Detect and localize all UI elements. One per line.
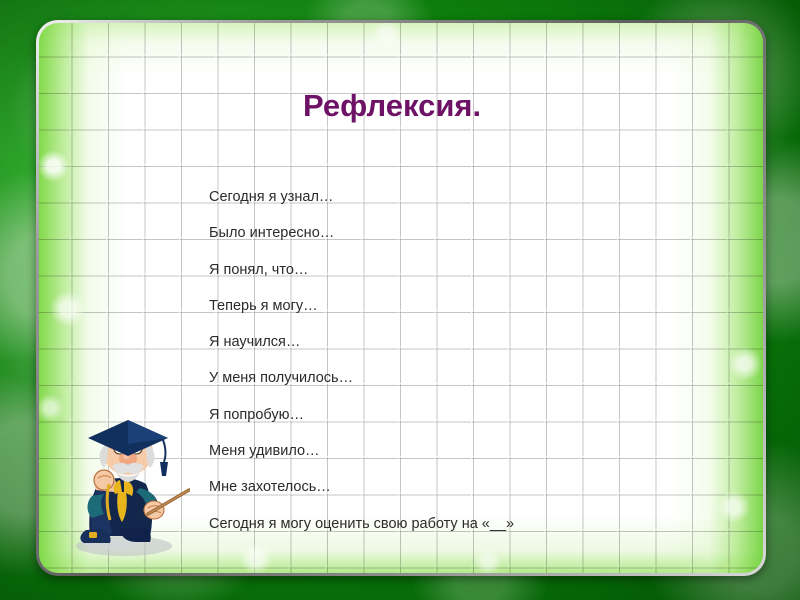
tassel-cord bbox=[163, 440, 165, 462]
left-fist bbox=[94, 470, 114, 490]
tassel bbox=[160, 462, 168, 476]
list-item: Я попробую… bbox=[209, 397, 514, 433]
professor-character bbox=[62, 418, 190, 568]
list-item: Мне захотелось… bbox=[209, 469, 514, 505]
list-item: У меня получилось… bbox=[209, 360, 514, 396]
list-item: Теперь я могу… bbox=[209, 288, 514, 324]
list-item: Я научился… bbox=[209, 324, 514, 360]
list-item: Я понял, что… bbox=[209, 252, 514, 288]
list-item: Было интересно… bbox=[209, 215, 514, 251]
list-item: Сегодня я узнал… bbox=[209, 179, 514, 215]
hair bbox=[100, 446, 109, 468]
page-title: Рефлексия. bbox=[303, 85, 493, 127]
slide-canvas: Рефлексия. Сегодня я узнал… Было интерес… bbox=[0, 0, 800, 600]
list-item: Меня удивило… bbox=[209, 433, 514, 469]
reflection-prompt-list: Сегодня я узнал… Было интересно… Я понял… bbox=[209, 179, 514, 542]
list-item: Сегодня я могу оценить свою работу на «_… bbox=[209, 506, 514, 542]
